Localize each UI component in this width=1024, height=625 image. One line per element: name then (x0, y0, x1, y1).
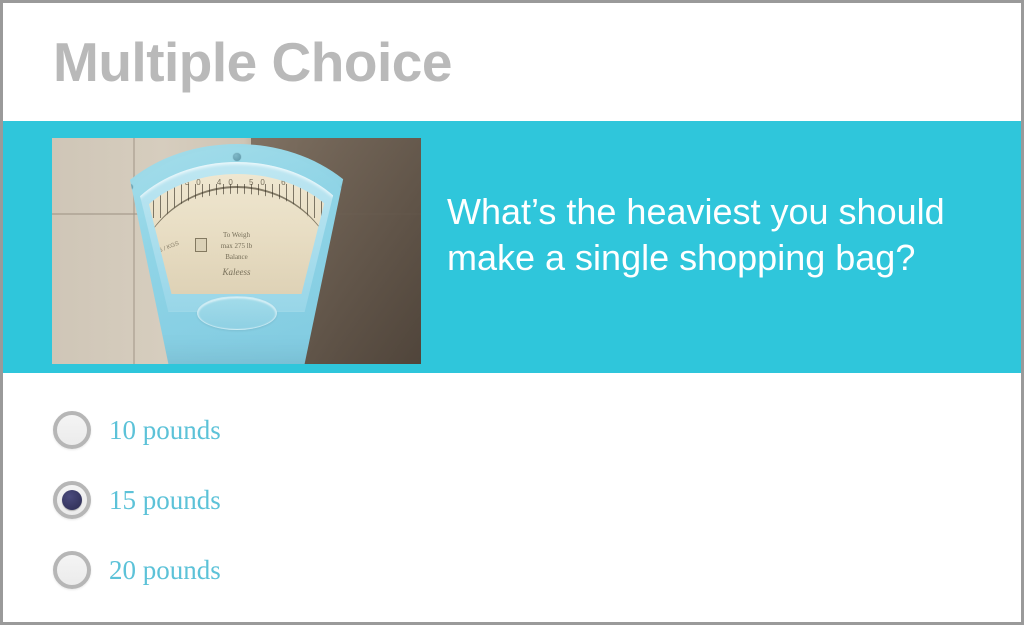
dial-tick-marks (132, 184, 342, 218)
answer-label-20-pounds: 20 pounds (109, 557, 221, 584)
dial-brand-line-2: max 275 lb (221, 242, 253, 250)
answer-option-15-pounds[interactable]: 15 pounds (53, 465, 1021, 535)
radio-button-icon-15-pounds[interactable] (53, 481, 91, 519)
answer-label-15-pounds: 15 pounds (109, 487, 221, 514)
dial-brand-line-3: Balance (225, 253, 248, 261)
dial-brand-line-1: To Weigh (223, 231, 250, 239)
answer-option-10-pounds[interactable]: 10 pounds (53, 395, 1021, 465)
dial-number-scale: 10 20 30 40 50 60 70 80 90 (121, 178, 353, 187)
answer-options-list: 10 pounds 15 pounds 20 pounds (3, 373, 1021, 605)
radio-button-icon-20-pounds[interactable] (53, 551, 91, 589)
page-title: Multiple Choice (3, 35, 452, 90)
answer-option-20-pounds[interactable]: 20 pounds (53, 535, 1021, 605)
question-banner: 10 20 30 40 50 60 70 80 90 LBS / KGS To … (3, 121, 1021, 373)
answer-label-10-pounds: 10 pounds (109, 417, 221, 444)
scale-center-plate (197, 296, 277, 330)
question-image: 10 20 30 40 50 60 70 80 90 LBS / KGS To … (52, 138, 421, 364)
dial-brand-script: Kaleess (121, 266, 353, 280)
scale-screw-top (233, 153, 241, 161)
slide-frame: Multiple Choice 10 20 30 40 50 60 70 80 … (0, 0, 1024, 625)
radio-button-icon-10-pounds[interactable] (53, 411, 91, 449)
question-text: What’s the heaviest you should make a si… (447, 189, 1003, 281)
slide-header: Multiple Choice (3, 3, 1021, 121)
